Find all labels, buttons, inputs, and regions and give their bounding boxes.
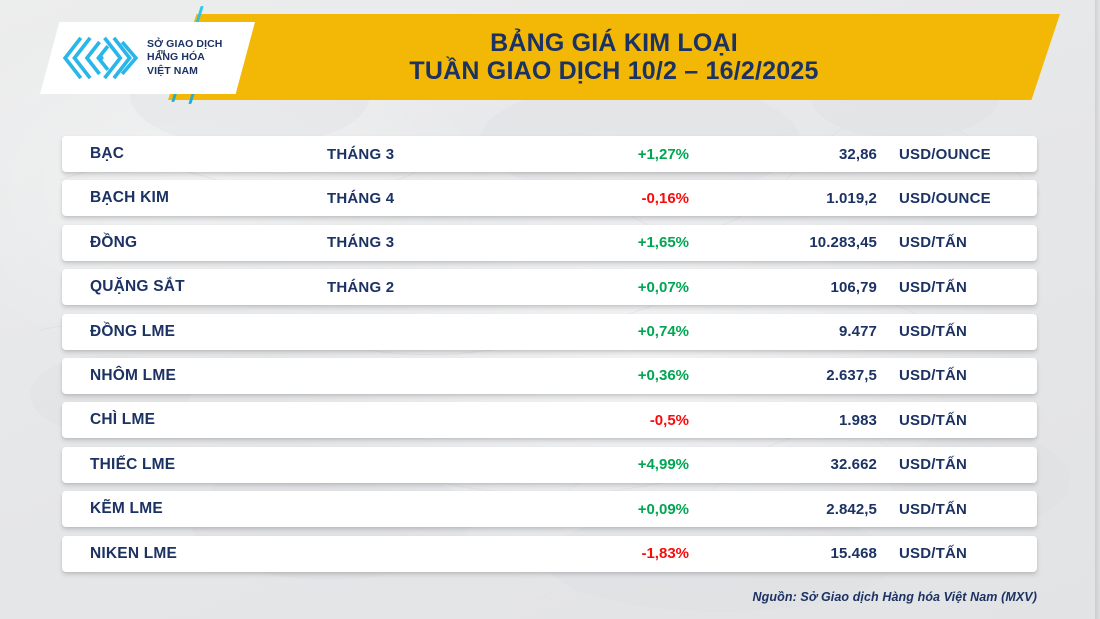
table-row[interactable]: ĐỒNGTHÁNG 3+1,65%10.283,45USD/TẤN — [62, 225, 1037, 261]
contract-month: THÁNG 3 — [327, 234, 527, 251]
price-unit: USD/TẤN — [877, 545, 1037, 562]
price-change-percent: -0,16% — [527, 190, 712, 207]
page-title: BẢNG GIÁ KIM LOẠI TUẦN GIAO DỊCH 10/2 – … — [409, 29, 818, 85]
table-row[interactable]: CHÌ LME-0,5%1.983USD/TẤN — [62, 402, 1037, 438]
trademark-mark: TM — [158, 50, 165, 56]
contract-month: THÁNG 3 — [327, 146, 527, 163]
source-note: Nguồn: Sở Giao dịch Hàng hóa Việt Nam (M… — [753, 590, 1037, 604]
table-row[interactable]: BẠCTHÁNG 3+1,27%32,86USD/OUNCE — [62, 136, 1037, 172]
price-unit: USD/TẤN — [877, 234, 1037, 251]
price-change-percent: +0,09% — [527, 501, 712, 518]
contract-month: THÁNG 4 — [327, 190, 527, 207]
table-row[interactable]: ĐỒNG LME+0,74%9.477USD/TẤN — [62, 314, 1037, 350]
price-change-percent: -1,83% — [527, 545, 712, 562]
price-value: 9.477 — [712, 323, 877, 340]
commodity-name: CHÌ LME — [62, 411, 327, 429]
table-row[interactable]: BẠCH KIMTHÁNG 4-0,16%1.019,2USD/OUNCE — [62, 180, 1037, 216]
price-change-percent: +0,07% — [527, 279, 712, 296]
price-value: 32.662 — [712, 456, 877, 473]
price-value: 106,79 — [712, 279, 877, 296]
table-row[interactable]: NIKEN LME-1,83%15.468USD/TẤN — [62, 536, 1037, 572]
commodity-name: BẠCH KIM — [62, 189, 327, 207]
price-value: 2.842,5 — [712, 501, 877, 518]
table-row[interactable]: NHÔM LME+0,36%2.637,5USD/TẤN — [62, 358, 1037, 394]
infographic-page: BẢNG GIÁ KIM LOẠI TUẦN GIAO DỊCH 10/2 – … — [0, 0, 1100, 619]
price-unit: USD/TẤN — [877, 501, 1037, 518]
contract-month: THÁNG 2 — [327, 279, 527, 296]
price-unit: USD/OUNCE — [877, 146, 1037, 163]
price-value: 2.637,5 — [712, 367, 877, 384]
logo-card: SỞ GIAO DỊCH HÀNG HÓA VIỆT NAM TM — [40, 22, 255, 94]
price-change-percent: +4,99% — [527, 456, 712, 473]
table-row[interactable]: QUẶNG SẮTTHÁNG 2+0,07%106,79USD/TẤN — [62, 269, 1037, 305]
commodity-name: NHÔM LME — [62, 367, 327, 385]
table-row[interactable]: KẼM LME+0,09%2.842,5USD/TẤN — [62, 491, 1037, 527]
price-value: 1.983 — [712, 412, 877, 429]
commodity-name: NIKEN LME — [62, 545, 327, 563]
title-line-2: TUẦN GIAO DỊCH 10/2 – 16/2/2025 — [409, 57, 818, 85]
price-unit: USD/TẤN — [877, 367, 1037, 384]
commodity-name: ĐỒNG — [62, 234, 327, 252]
logo-line-3: VIỆT NAM — [147, 65, 223, 78]
commodity-name: ĐỒNG LME — [62, 323, 327, 341]
price-unit: USD/OUNCE — [877, 190, 1037, 207]
price-change-percent: -0,5% — [527, 412, 712, 429]
commodity-name: BẠC — [62, 145, 327, 163]
title-banner: BẢNG GIÁ KIM LOẠI TUẦN GIAO DỊCH 10/2 – … — [168, 14, 1060, 100]
price-value: 32,86 — [712, 146, 877, 163]
page-header: BẢNG GIÁ KIM LOẠI TUẦN GIAO DỊCH 10/2 – … — [0, 0, 1100, 118]
price-value: 10.283,45 — [712, 234, 877, 251]
commodity-name: KẼM LME — [62, 500, 327, 518]
price-change-percent: +1,27% — [527, 146, 712, 163]
price-change-percent: +1,65% — [527, 234, 712, 251]
price-table: BẠCTHÁNG 3+1,27%32,86USD/OUNCEBẠCH KIMTH… — [62, 136, 1037, 580]
commodity-name: QUẶNG SẮT — [62, 278, 327, 296]
logo-wordmark: SỞ GIAO DỊCH HÀNG HÓA VIỆT NAM — [147, 38, 223, 78]
price-unit: USD/TẤN — [877, 456, 1037, 473]
price-change-percent: +0,36% — [527, 367, 712, 384]
price-unit: USD/TẤN — [877, 412, 1037, 429]
price-value: 1.019,2 — [712, 190, 877, 207]
price-unit: USD/TẤN — [877, 279, 1037, 296]
mxv-logo-icon — [62, 36, 140, 80]
price-unit: USD/TẤN — [877, 323, 1037, 340]
commodity-name: THIẾC LME — [62, 456, 327, 474]
title-line-1: BẢNG GIÁ KIM LOẠI — [409, 29, 818, 57]
price-change-percent: +0,74% — [527, 323, 712, 340]
table-row[interactable]: THIẾC LME+4,99%32.662USD/TẤN — [62, 447, 1037, 483]
price-value: 15.468 — [712, 545, 877, 562]
